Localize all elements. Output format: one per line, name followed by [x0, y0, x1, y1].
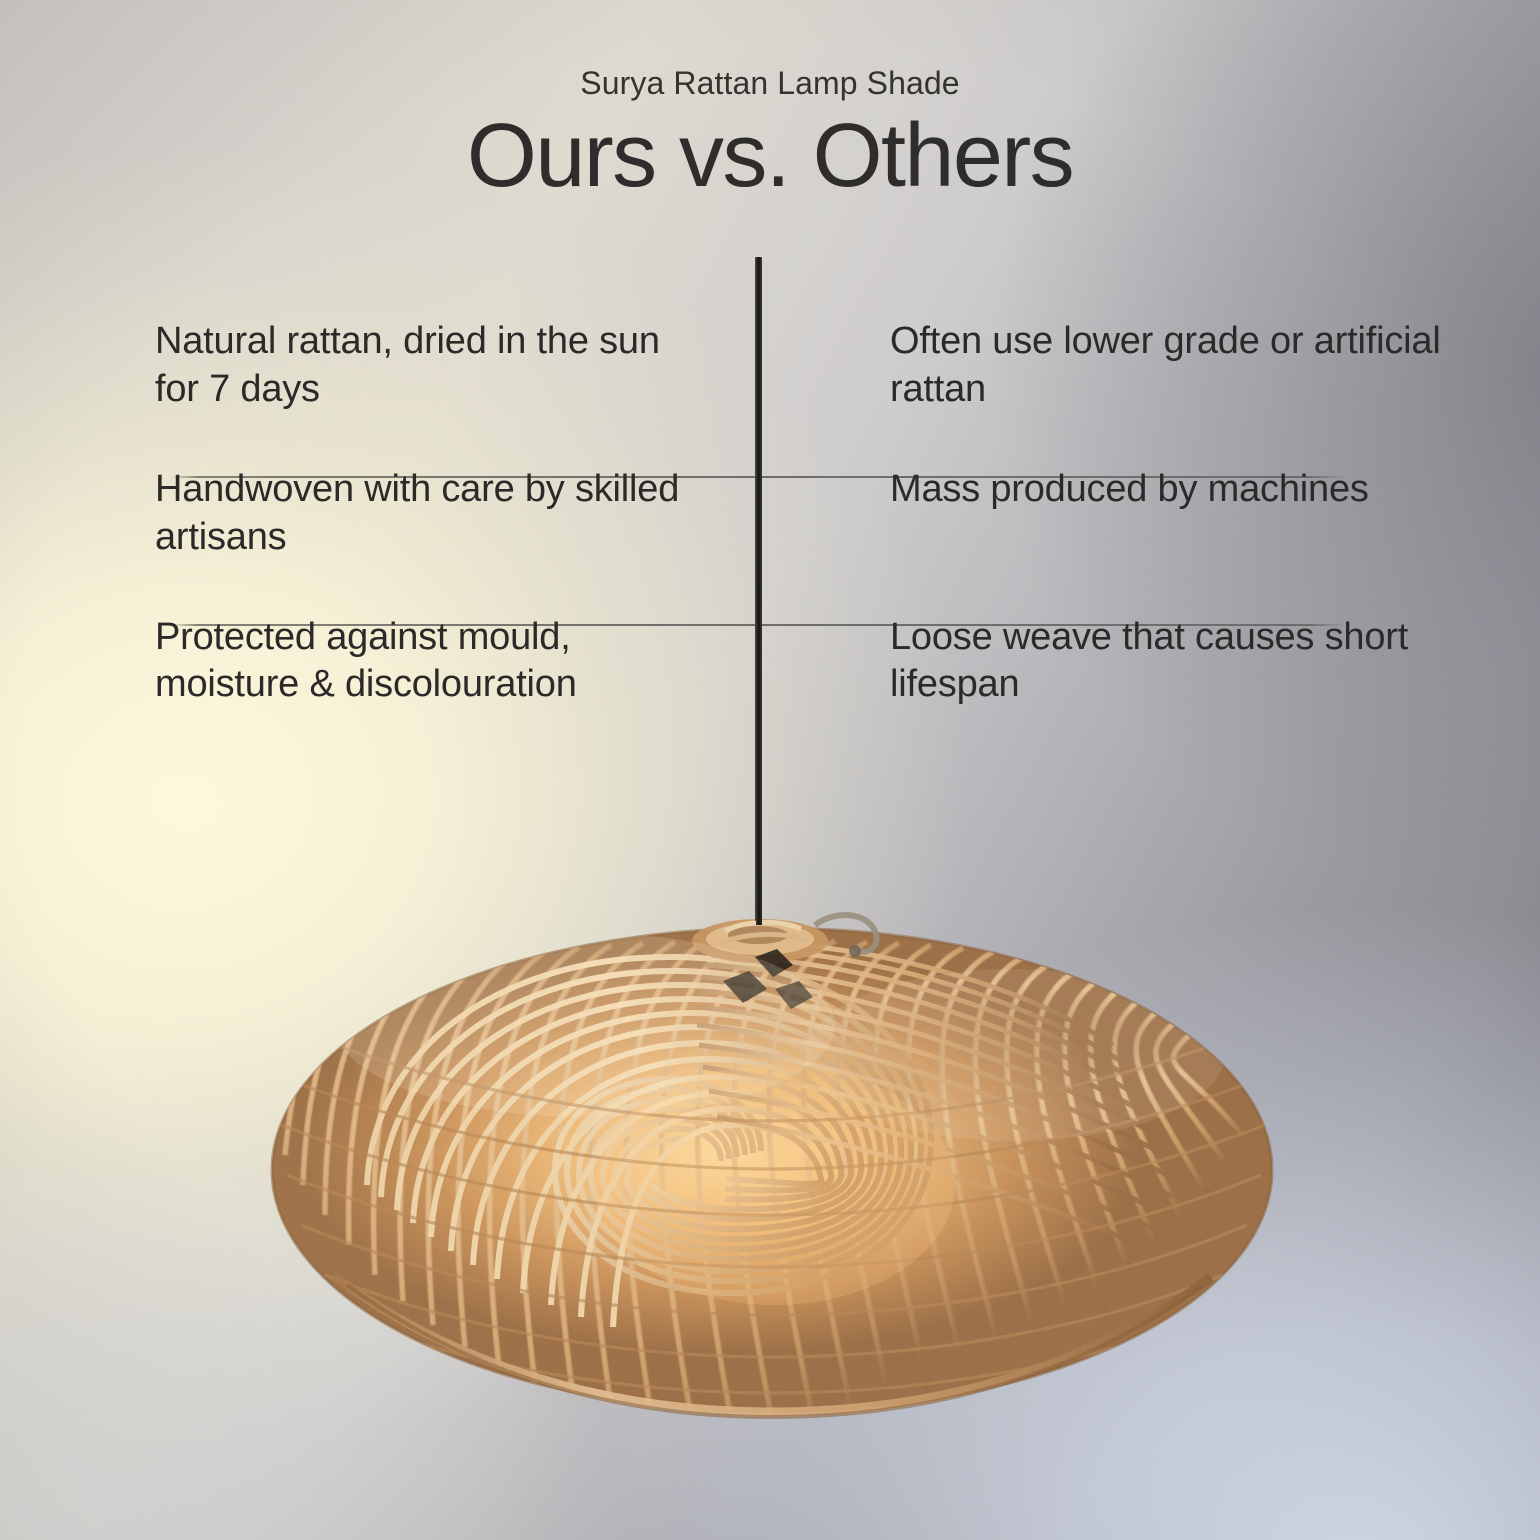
comparison-row: Handwoven with care by skilled artisans … — [0, 466, 1540, 562]
ours-text: Protected against mould, moisture & disc… — [155, 614, 710, 710]
ours-text: Handwoven with care by skilled artisans — [155, 466, 710, 562]
row-spacer — [0, 562, 1540, 614]
rattan-lamp-image — [255, 885, 1290, 1440]
comparison-infographic: Surya Rattan Lamp Shade Ours vs. Others … — [0, 0, 1540, 1540]
comparison-row: Protected against mould, moisture & disc… — [0, 614, 1540, 710]
ours-cell: Natural rattan, dried in the sun for 7 d… — [0, 318, 770, 414]
lamp-cord — [755, 257, 762, 921]
others-cell: Loose weave that causes short lifespan — [770, 614, 1540, 710]
row-spacer — [0, 414, 1540, 466]
others-text: Mass produced by machines — [890, 466, 1480, 514]
ours-cell: Protected against mould, moisture & disc… — [0, 614, 770, 710]
lamp-cord-lower — [756, 880, 762, 925]
comparison-table: Natural rattan, dried in the sun for 7 d… — [0, 318, 1540, 709]
others-cell: Often use lower grade or artificial ratt… — [770, 318, 1540, 414]
others-text: Loose weave that causes short lifespan — [890, 614, 1480, 710]
ours-text: Natural rattan, dried in the sun for 7 d… — [155, 318, 710, 414]
ours-cell: Handwoven with care by skilled artisans — [0, 466, 770, 562]
others-cell: Mass produced by machines — [770, 466, 1540, 562]
header: Surya Rattan Lamp Shade Ours vs. Others — [0, 64, 1540, 203]
page-title: Ours vs. Others — [0, 111, 1540, 203]
others-text: Often use lower grade or artificial ratt… — [890, 318, 1480, 414]
comparison-row: Natural rattan, dried in the sun for 7 d… — [0, 318, 1540, 414]
product-name-eyebrow: Surya Rattan Lamp Shade — [0, 64, 1540, 102]
